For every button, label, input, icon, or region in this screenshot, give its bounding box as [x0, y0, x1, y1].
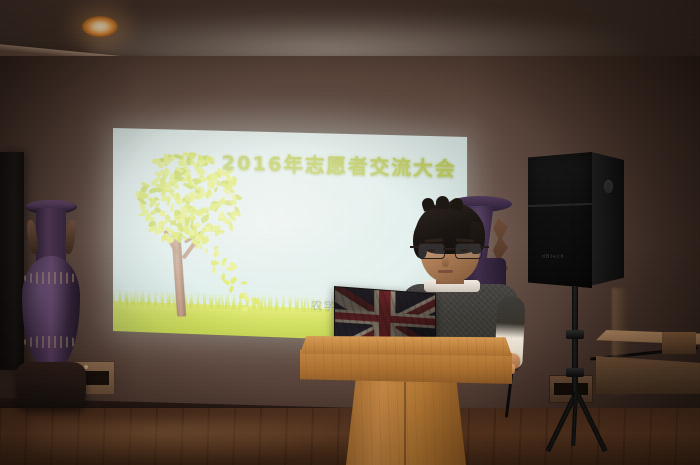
- tree-falling-leaf: [221, 261, 225, 267]
- tree-falling-leaf: [227, 285, 234, 293]
- tree-leaf: [229, 222, 233, 230]
- side-table-front: [596, 356, 700, 394]
- recessed-downlight-icon: [82, 16, 118, 37]
- tree-falling-leaf: [240, 282, 246, 285]
- presenter-nose: [442, 256, 449, 267]
- tree-leaf: [232, 194, 236, 201]
- tree-falling-leaf: [242, 306, 249, 312]
- eyeglass-temple-left: [410, 246, 419, 248]
- tree-leaf: [160, 178, 166, 188]
- lectern-column-seam: [404, 382, 406, 465]
- eyeglass-temple-right: [480, 246, 489, 248]
- lectern: [300, 336, 512, 465]
- tree-leaf: [155, 202, 161, 207]
- eyeglass-bridge: [443, 248, 455, 250]
- speaker-brand-logo: dBtech: [542, 254, 565, 260]
- stand-clamp[interactable]: [566, 330, 584, 339]
- tree-leaf: [171, 232, 180, 236]
- tree-falling-leaf: [198, 243, 202, 249]
- speaker-port-icon: [604, 180, 613, 193]
- vase-left: [16, 196, 88, 408]
- lectern-desktop: [300, 336, 512, 356]
- hair-tuft: [436, 196, 450, 210]
- slide-footer-text: 农学: [311, 297, 336, 314]
- eyeglass-lens-right: [455, 243, 482, 259]
- tree-falling-leaf: [191, 230, 195, 236]
- presenter-eye-left: [427, 249, 435, 252]
- tree-leaf: [182, 151, 188, 156]
- tree-leaf: [189, 207, 192, 215]
- speaker-side-panel: [590, 146, 624, 286]
- side-table-box: [662, 332, 696, 354]
- speaker-front-grille: [528, 152, 592, 288]
- panel-slot-right: [554, 383, 588, 395]
- pa-loudspeaker: dBtech: [528, 146, 624, 288]
- tree-leaf: [174, 183, 179, 189]
- side-table: [596, 330, 700, 390]
- presenter-eye-right: [460, 249, 468, 252]
- vase-left-pattern: [24, 336, 78, 348]
- lectern-column: [346, 380, 466, 465]
- tree-leaf: [149, 188, 158, 194]
- vase-left-pattern: [24, 272, 78, 284]
- tree-falling-leaf: [212, 266, 217, 274]
- vase-left-neck: [36, 208, 66, 262]
- stand-clamp[interactable]: [566, 368, 584, 377]
- tree-leaf: [200, 188, 204, 196]
- tree-leaf: [182, 235, 187, 241]
- presenter-mouth: [438, 270, 453, 273]
- screenshot-scene: 2016年志愿者交流大会 农学 dBtech: [0, 0, 700, 465]
- vase-left-wooden-base: [16, 362, 86, 408]
- speaker-stand-pole: [572, 286, 578, 398]
